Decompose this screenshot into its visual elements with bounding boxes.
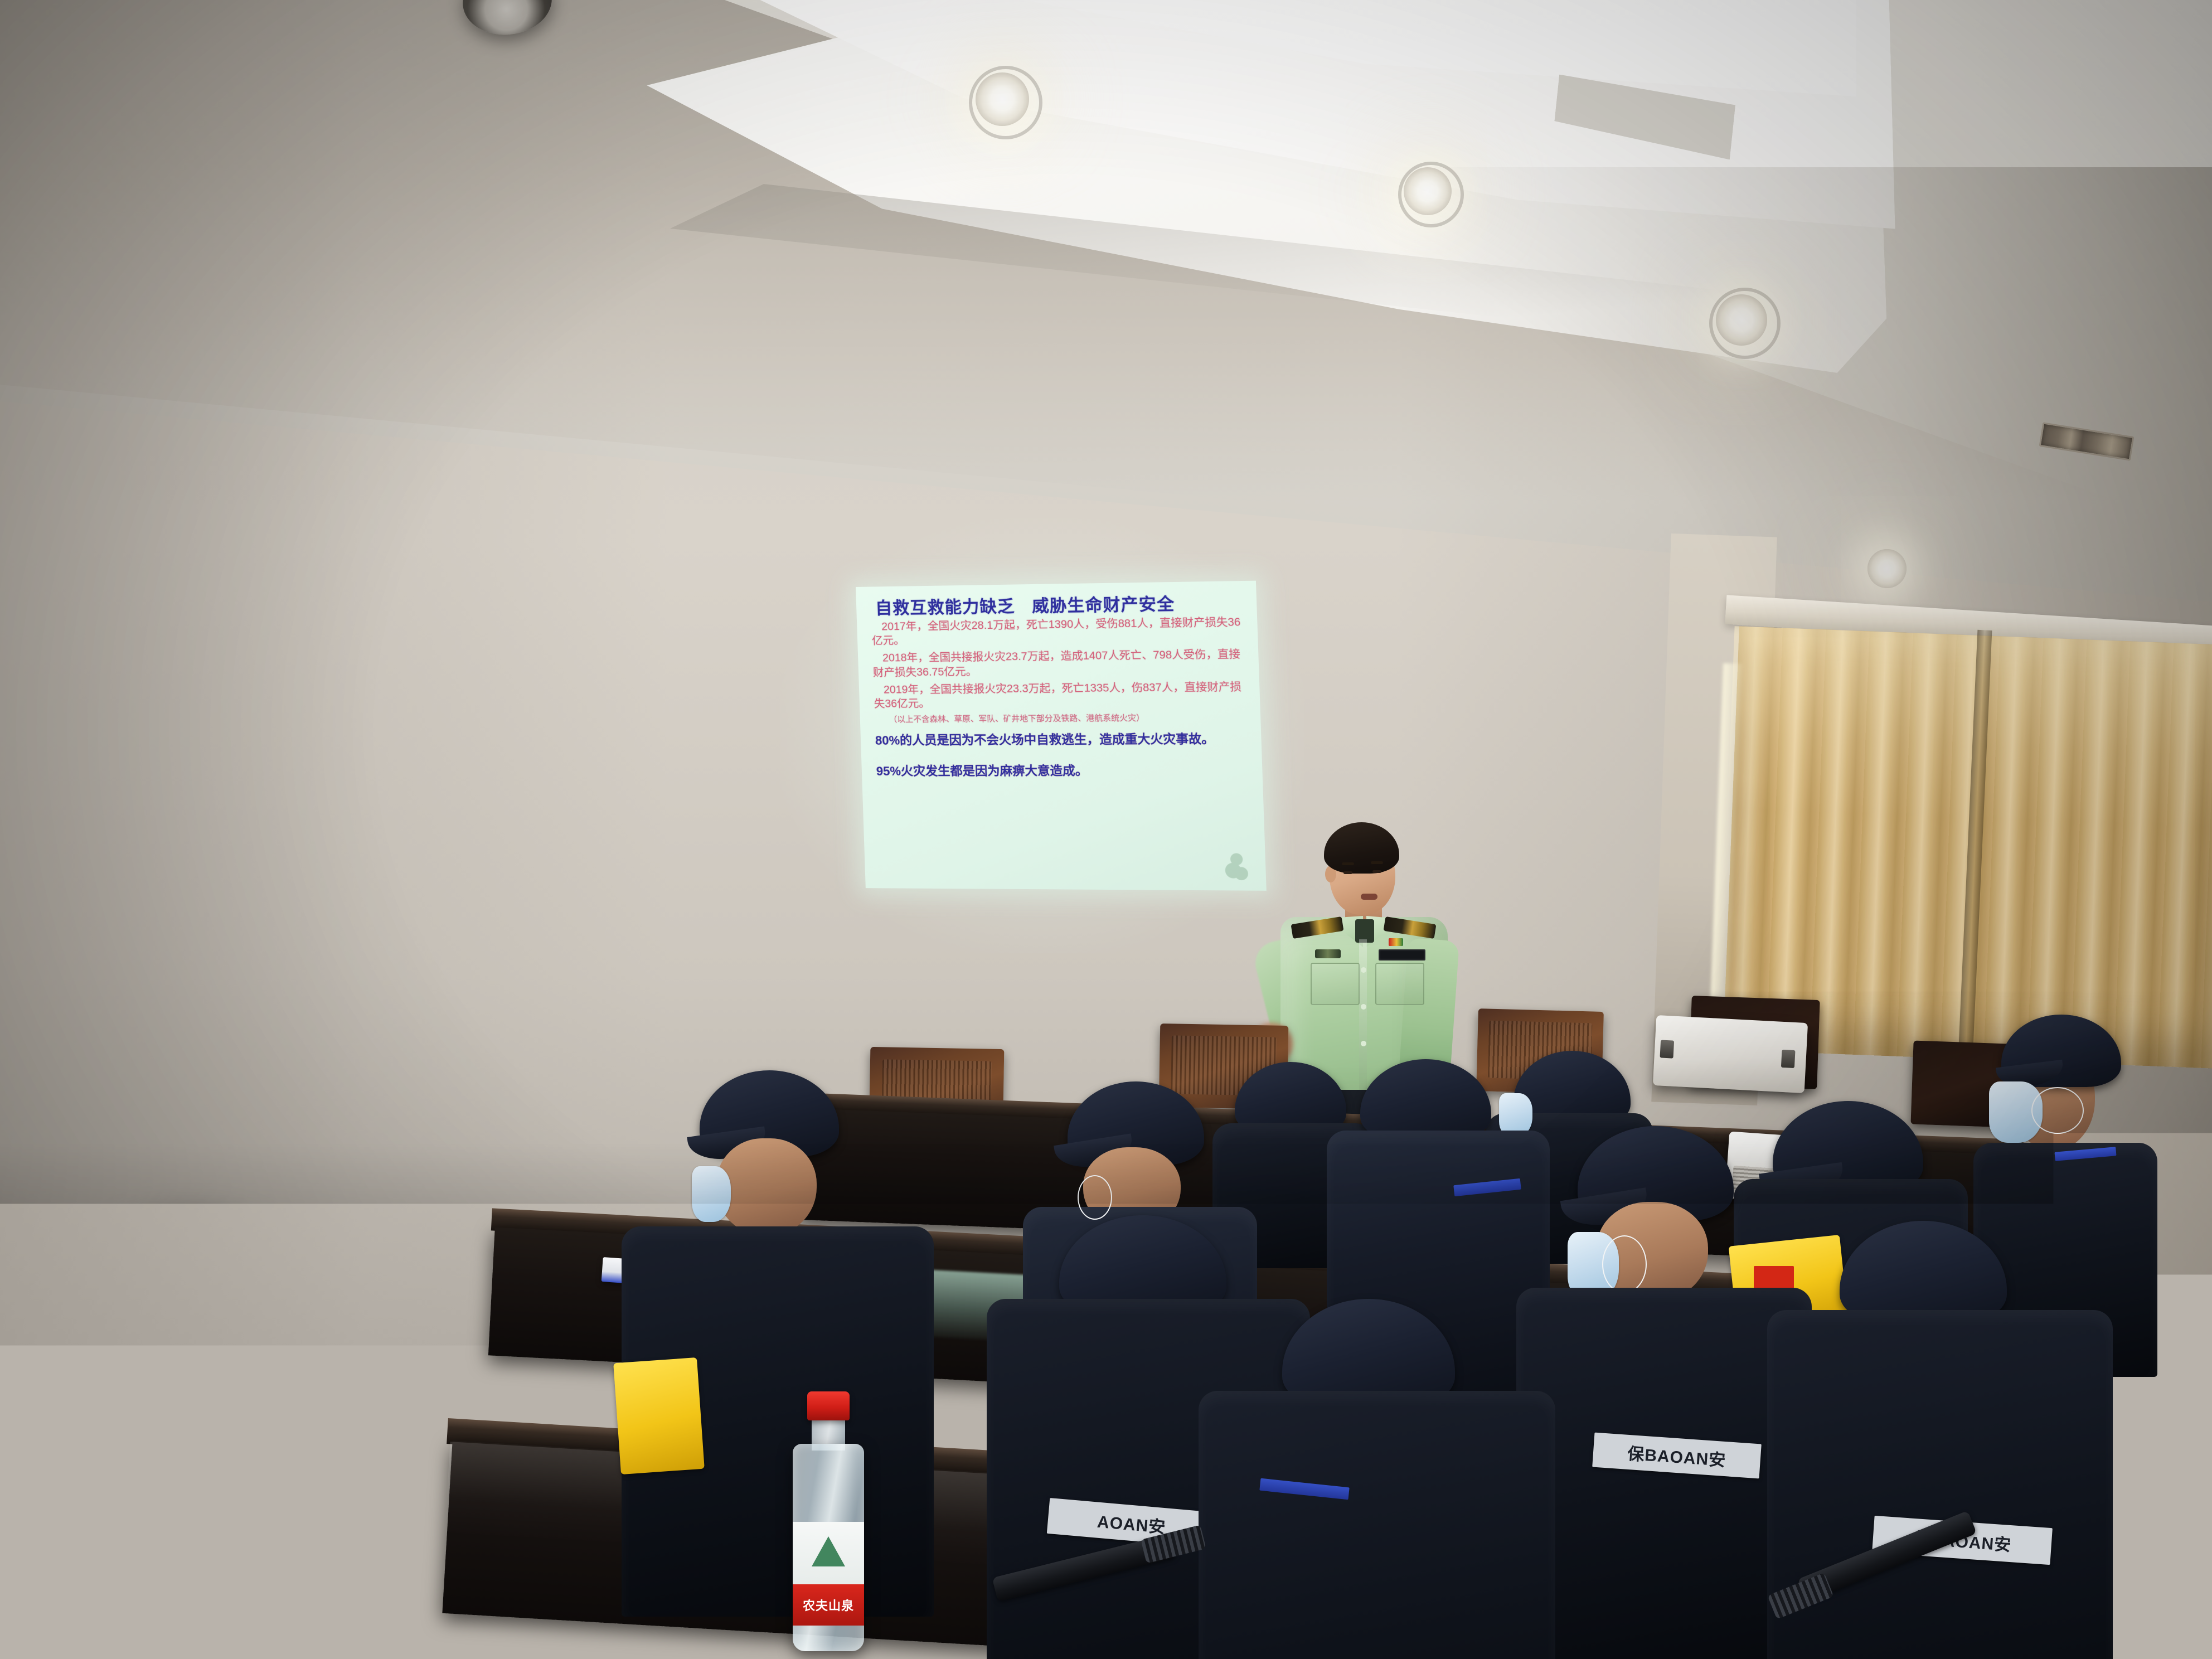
presenter-mouth [1361,894,1377,900]
slide-line-2017: 2017年，全国火灾28.1万起，死亡1390人，受伤881人，直接财产损失36… [871,615,1245,648]
presenter-name-tag [1379,949,1425,961]
torso [1199,1391,1555,1659]
projector-carry-case [1653,1015,1808,1093]
mask-ear-strap [1078,1175,1112,1220]
slide-body: 2017年，全国火灾28.1万起，死亡1390人，受伤881人，直接财产损失36… [871,615,1250,779]
presenter-eye-left [1343,871,1352,874]
presenter-brow-left [1342,862,1354,865]
projected-slide: 自救互救能力缺乏 威胁生命财产安全 2017年，全国火灾28.1万起，死亡139… [856,581,1267,891]
presenter-button-1 [1361,967,1366,973]
presenter-pocket-left [1311,963,1360,1005]
slide-line-2019: 2019年，全国共接报火灾23.3万起，死亡1335人，伤837人，直接财产损失… [874,680,1248,712]
presenter-button-2 [1361,1004,1366,1010]
bottle-brand-label: 农夫山泉 [793,1584,864,1626]
left-wall-shading [0,0,669,1355]
arm-band [613,1357,705,1474]
presenter-button-3 [1361,1041,1366,1046]
bottle-cap [807,1391,850,1420]
presenter-shirt-placket [1359,939,1367,1101]
case-latch-left [1660,1040,1674,1058]
presenter-pocket-right [1375,963,1424,1005]
presenter-brow-right [1371,861,1383,864]
bottle-mountain-logo [812,1536,845,1566]
mask-ear-strap [2031,1087,2084,1134]
face-mask [692,1166,731,1222]
presenter-flag-badge [1389,938,1403,946]
head [716,1138,817,1236]
presenter-hair [1324,822,1399,874]
slide-footnote: （以上不含森林、草原、军队、矿井地下部分及铁路、港航系统火灾） [889,712,1248,725]
torso [1767,1310,2113,1659]
presenter-chest-insignia [1315,949,1341,958]
slide-title-right: 威胁生命财产安全 [1032,596,1175,616]
mask-ear-strap [1602,1235,1647,1293]
case-latch-right [1781,1050,1796,1068]
slide-title-left: 自救互救能力缺乏 [875,598,1015,618]
conference-room-photo: 自救互救能力缺乏 威胁生命财产安全 2017年，全国火灾28.1万起，死亡139… [0,0,2212,1659]
slide-watermark-logo [1223,853,1251,883]
presenter-eye-right [1372,870,1381,873]
slide-highlight-80: 80%的人员是因为不会火场中自救逃生，造成重大火灾事故。 [875,731,1249,749]
slide-line-2018: 2018年，全国共接报火灾23.7万起，造成1407人死亡、798人受伤，直接财… [872,648,1246,680]
slide-highlight-95: 95%火灾发生都是因为麻痹大意造成。 [876,763,1249,779]
slide-title: 自救互救能力缺乏 威胁生命财产安全 [875,595,1244,618]
downlight-ring-1 [969,66,1042,139]
